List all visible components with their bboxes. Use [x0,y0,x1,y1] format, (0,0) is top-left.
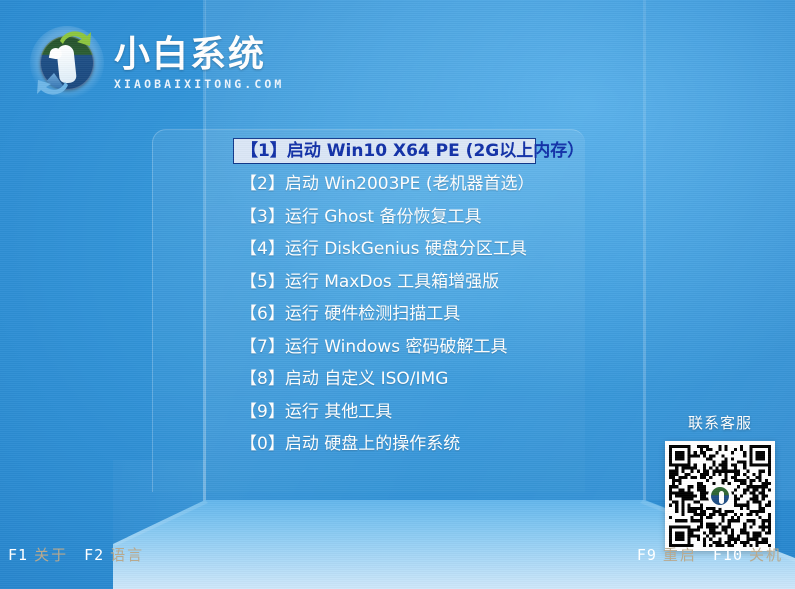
function-key-f9[interactable]: F9重启 [637,546,697,564]
boot-menu-item-label: 【8】启动 自定义 ISO/IMG [240,369,448,389]
function-keys-left[interactable]: F1关于F2语言 [8,543,144,567]
customer-service-block: 联系客服 [655,412,785,551]
customer-service-title: 联系客服 [655,412,785,433]
boot-menu-item-label: 【9】运行 其他工具 [240,402,392,422]
boot-menu-item-label: 【6】运行 硬件检测扫描工具 [240,304,460,324]
function-key-label: 关机 [749,546,783,564]
function-key-name: F1 [8,546,28,564]
boot-menu-item-label: 【3】运行 Ghost 备份恢复工具 [240,207,482,227]
function-key-f10[interactable]: F10关机 [713,546,783,564]
function-key-name: F10 [713,546,743,564]
boot-menu-item-label: 【1】启动 Win10 X64 PE (2G以上内存） [241,141,584,161]
boot-menu-item-6[interactable]: 【6】运行 硬件检测扫描工具 [233,298,543,331]
function-keys-right[interactable]: F9重启F10关机 [637,543,783,567]
boot-menu-item-7[interactable]: 【7】运行 Windows 密码破解工具 [233,331,543,364]
brand-logo: 小白系统 XIAOBAIXITONG.COM [28,22,278,104]
boot-menu-item-9[interactable]: 【9】运行 其他工具 [233,396,543,429]
boot-menu-item-5[interactable]: 【5】运行 MaxDos 工具箱增强版 [233,266,543,299]
swan-globe-logo-icon [28,24,106,102]
boot-menu-item-0[interactable]: 【0】启动 硬盘上的操作系统 [233,428,543,461]
boot-menu-item-4[interactable]: 【4】运行 DiskGenius 硬盘分区工具 [233,233,543,266]
function-key-f2[interactable]: F2语言 [84,546,144,564]
qr-code[interactable] [665,441,775,551]
boot-menu-list[interactable]: 【1】启动 Win10 X64 PE (2G以上内存）【2】启动 Win2003… [233,136,543,461]
qr-center-logo-icon [708,484,732,508]
boot-menu-item-label: 【7】运行 Windows 密码破解工具 [240,337,508,357]
boot-menu-item-8[interactable]: 【8】启动 自定义 ISO/IMG [233,363,543,396]
blue-arrow-icon [36,68,70,98]
boot-menu-item-label: 【5】运行 MaxDos 工具箱增强版 [240,272,499,292]
boot-menu-item-label: 【0】启动 硬盘上的操作系统 [240,434,460,454]
function-key-name: F9 [637,546,657,564]
boot-menu-screen: 小白系统 XIAOBAIXITONG.COM 【1】启动 Win10 X64 P… [0,0,795,589]
function-key-name: F2 [84,546,104,564]
boot-menu-item-label: 【2】启动 Win2003PE (老机器首选） [240,174,534,194]
function-key-label: 语言 [110,546,144,564]
logo-title-cn: 小白系统 [114,35,284,75]
green-arrow-icon [58,28,92,58]
boot-menu-item-label: 【4】运行 DiskGenius 硬盘分区工具 [240,239,527,259]
function-key-label: 关于 [34,546,68,564]
function-key-label: 重启 [663,546,697,564]
function-key-bar: F1关于F2语言 F9重启F10关机 [0,543,795,567]
boot-menu-item-3[interactable]: 【3】运行 Ghost 备份恢复工具 [233,201,543,234]
function-key-f1[interactable]: F1关于 [8,546,68,564]
boot-menu-item-2[interactable]: 【2】启动 Win2003PE (老机器首选） [233,168,543,201]
stage-seam-right [643,0,646,505]
logo-domain: XIAOBAIXITONG.COM [114,76,284,92]
boot-menu-item-1[interactable]: 【1】启动 Win10 X64 PE (2G以上内存） [233,138,536,164]
